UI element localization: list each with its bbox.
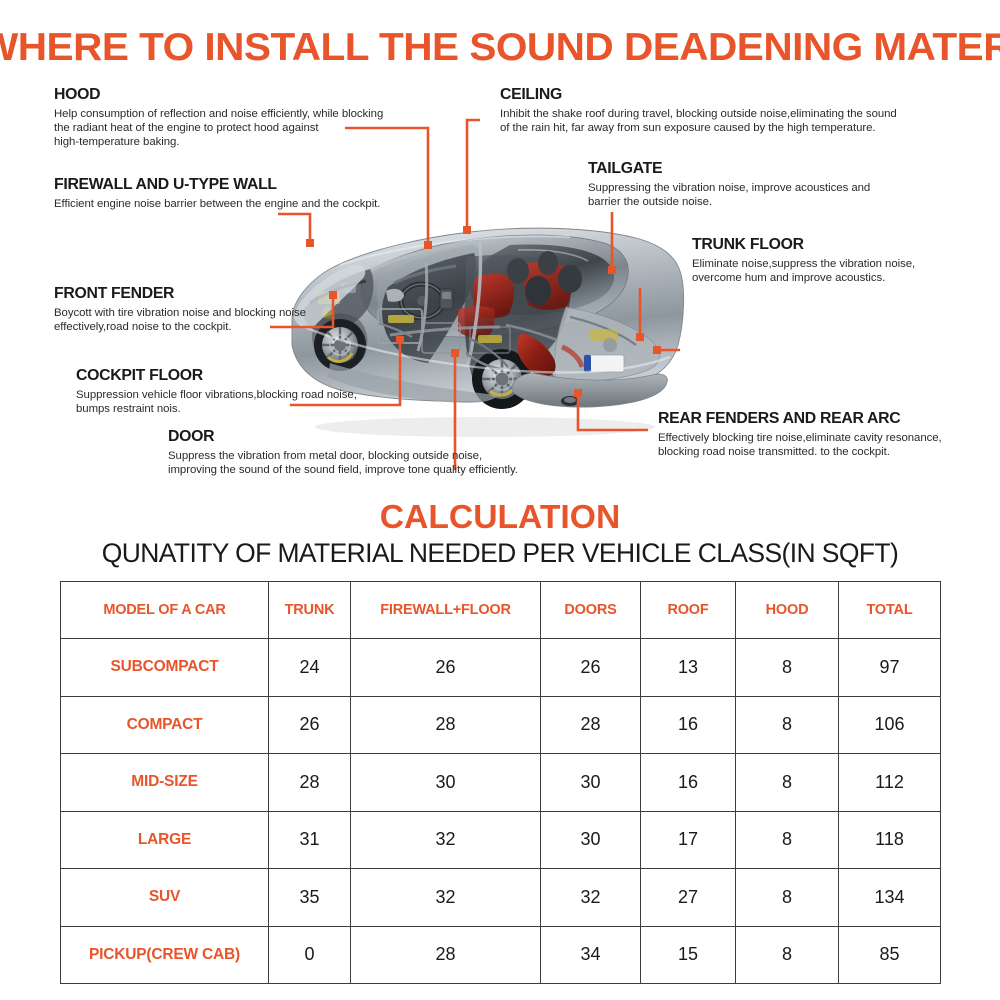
row-label-pickup: PICKUP(CREW CAB) xyxy=(61,926,269,984)
callout-cockpit-floor: COCKPIT FLOOR Suppression vehicle floor … xyxy=(76,367,426,416)
row-label-suv: SUV xyxy=(61,869,269,927)
callout-hood: HOOD Help consumption of reflection and … xyxy=(54,86,414,150)
cell-suv-trunk: 35 xyxy=(269,869,351,927)
cell-subcompact-hood: 8 xyxy=(736,639,839,697)
table-row: COMPACT 26 28 28 16 8 106 xyxy=(61,696,941,754)
cell-pickup-hood: 8 xyxy=(736,926,839,984)
callout-trunk-floor-title: TRUNK FLOOR xyxy=(692,236,988,254)
cell-mid-size-doors: 30 xyxy=(541,754,641,812)
quantity-table-body: SUBCOMPACT 24 26 26 13 8 97 COMPACT 26 2… xyxy=(61,639,941,984)
cell-large-doors: 30 xyxy=(541,811,641,869)
cell-large-trunk: 31 xyxy=(269,811,351,869)
callout-door: DOOR Suppress the vibration from metal d… xyxy=(168,428,568,477)
calculation-title: CALCULATION xyxy=(0,498,1000,536)
cell-large-roof: 17 xyxy=(641,811,736,869)
cell-large-hood: 8 xyxy=(736,811,839,869)
callout-tailgate-body: Suppressing the vibration noise, improve… xyxy=(588,181,918,209)
cell-compact-trunk: 26 xyxy=(269,696,351,754)
quantity-table: MODEL OF A CAR TRUNK FIREWALL+FLOOR DOOR… xyxy=(60,581,941,984)
col-header-doors: DOORS xyxy=(541,582,641,639)
row-label-compact: COMPACT xyxy=(61,696,269,754)
row-label-mid-size: MID-SIZE xyxy=(61,754,269,812)
cell-mid-size-roof: 16 xyxy=(641,754,736,812)
row-label-subcompact: SUBCOMPACT xyxy=(61,639,269,697)
callout-ceiling-body: Inhibit the shake roof during travel, bl… xyxy=(500,107,960,135)
cell-subcompact-total: 97 xyxy=(839,639,941,697)
callout-front-fender: FRONT FENDER Boycott with tire vibration… xyxy=(54,285,384,334)
callout-cockpit-floor-body: Suppression vehicle floor vibrations,blo… xyxy=(76,388,426,416)
quantity-table-wrapper: MODEL OF A CAR TRUNK FIREWALL+FLOOR DOOR… xyxy=(60,581,940,984)
cell-compact-firewall: 28 xyxy=(351,696,541,754)
table-row: SUV 35 32 32 27 8 134 xyxy=(61,869,941,927)
cell-subcompact-firewall: 26 xyxy=(351,639,541,697)
cell-pickup-total: 85 xyxy=(839,926,941,984)
row-label-large: LARGE xyxy=(61,811,269,869)
table-row: MID-SIZE 28 30 30 16 8 112 xyxy=(61,754,941,812)
cell-suv-total: 134 xyxy=(839,869,941,927)
table-header-row: MODEL OF A CAR TRUNK FIREWALL+FLOOR DOOR… xyxy=(61,582,941,639)
col-header-total: TOTAL xyxy=(839,582,941,639)
cell-suv-firewall: 32 xyxy=(351,869,541,927)
callout-hood-body: Help consumption of reflection and noise… xyxy=(54,107,414,150)
cell-compact-doors: 28 xyxy=(541,696,641,754)
table-row: SUBCOMPACT 24 26 26 13 8 97 xyxy=(61,639,941,697)
callout-ceiling-title: CEILING xyxy=(500,86,969,104)
cell-suv-hood: 8 xyxy=(736,869,839,927)
callout-trunk-floor-body: Eliminate noise,suppress the vibration n… xyxy=(692,257,982,285)
cell-compact-total: 106 xyxy=(839,696,941,754)
cell-large-firewall: 32 xyxy=(351,811,541,869)
callout-rear-fenders-body: Effectively blocking tire noise,eliminat… xyxy=(658,431,978,459)
cell-mid-size-total: 112 xyxy=(839,754,941,812)
quantity-table-head: MODEL OF A CAR TRUNK FIREWALL+FLOOR DOOR… xyxy=(61,582,941,639)
callout-cockpit-floor-title: COCKPIT FLOOR xyxy=(76,367,433,385)
cell-subcompact-roof: 13 xyxy=(641,639,736,697)
cell-mid-size-hood: 8 xyxy=(736,754,839,812)
callout-ceiling: CEILING Inhibit the shake roof during tr… xyxy=(500,86,960,135)
callout-door-body: Suppress the vibration from metal door, … xyxy=(168,449,568,477)
page-title: WHERE TO INSTALL THE SOUND DEADENING MAT… xyxy=(0,26,1000,70)
col-header-model: MODEL OF A CAR xyxy=(61,582,269,639)
infographic-page: WHERE TO INSTALL THE SOUND DEADENING MAT… xyxy=(0,0,1000,1000)
table-row: PICKUP(CREW CAB) 0 28 34 15 8 85 xyxy=(61,926,941,984)
cell-compact-hood: 8 xyxy=(736,696,839,754)
cell-pickup-firewall: 28 xyxy=(351,926,541,984)
calculation-subtitle: QUNATITY OF MATERIAL NEEDED PER VEHICLE … xyxy=(10,538,990,569)
callout-hood-title: HOOD xyxy=(54,86,421,104)
cell-pickup-roof: 15 xyxy=(641,926,736,984)
callout-firewall-body: Efficient engine noise barrier between t… xyxy=(54,197,444,211)
callout-tailgate: TAILGATE Suppressing the vibration noise… xyxy=(588,160,918,209)
callout-firewall: FIREWALL AND U-TYPE WALL Efficient engin… xyxy=(54,176,444,211)
cell-subcompact-doors: 26 xyxy=(541,639,641,697)
callout-rear-fenders: REAR FENDERS AND REAR ARC Effectively bl… xyxy=(658,410,978,459)
callout-front-fender-title: FRONT FENDER xyxy=(54,285,391,303)
col-header-firewall: FIREWALL+FLOOR xyxy=(351,582,541,639)
callout-door-title: DOOR xyxy=(168,428,576,446)
col-header-hood: HOOD xyxy=(736,582,839,639)
cell-suv-doors: 32 xyxy=(541,869,641,927)
callout-rear-fenders-title: REAR FENDERS AND REAR ARC xyxy=(658,410,984,428)
cell-pickup-doors: 34 xyxy=(541,926,641,984)
cell-large-total: 118 xyxy=(839,811,941,869)
table-row: LARGE 31 32 30 17 8 118 xyxy=(61,811,941,869)
callout-tailgate-title: TAILGATE xyxy=(588,160,925,178)
cell-subcompact-trunk: 24 xyxy=(269,639,351,697)
cell-mid-size-firewall: 30 xyxy=(351,754,541,812)
callout-firewall-title: FIREWALL AND U-TYPE WALL xyxy=(54,176,452,194)
col-header-roof: ROOF xyxy=(641,582,736,639)
callout-front-fender-body: Boycott with tire vibration noise and bl… xyxy=(54,306,384,334)
cell-pickup-trunk: 0 xyxy=(269,926,351,984)
cell-mid-size-trunk: 28 xyxy=(269,754,351,812)
callout-trunk-floor: TRUNK FLOOR Eliminate noise,suppress the… xyxy=(692,236,982,285)
cell-compact-roof: 16 xyxy=(641,696,736,754)
cell-suv-roof: 27 xyxy=(641,869,736,927)
col-header-trunk: TRUNK xyxy=(269,582,351,639)
